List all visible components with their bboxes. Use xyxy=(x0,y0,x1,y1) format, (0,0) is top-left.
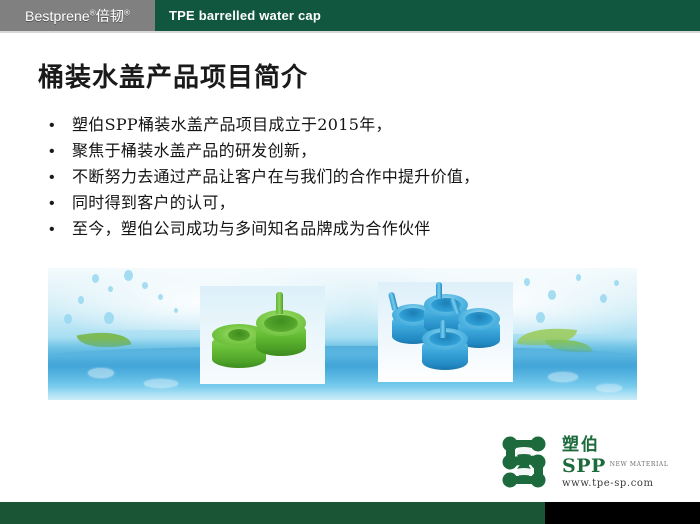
water-droplet xyxy=(64,314,72,324)
water-droplet xyxy=(78,296,84,304)
logo-text-block: 塑伯 SPP NEW MATERIAL www.tpe-sp.com xyxy=(562,436,668,489)
list-item: • 不断努力去通过产品让客户在与我们的合作中提升价值， xyxy=(46,164,656,190)
green-cap-pull-tab xyxy=(276,292,283,314)
water-foam xyxy=(548,372,578,382)
water-droplet xyxy=(600,294,607,303)
water-droplet xyxy=(548,290,556,300)
bullet-marker-icon: • xyxy=(46,165,72,191)
list-item: • 同时得到客户的认可， xyxy=(46,190,656,216)
water-foam xyxy=(88,368,114,378)
spp-molecule-logo-icon xyxy=(496,434,554,490)
water-droplet xyxy=(108,286,113,292)
water-foam xyxy=(144,379,178,388)
blue-cap-top-spout xyxy=(436,282,442,298)
water-droplet xyxy=(92,274,99,283)
slide-header: Bestprene®倍韧® TPE barrelled water cap xyxy=(0,0,700,31)
water-splash-product-photo xyxy=(48,268,637,400)
list-item-text: 塑伯SPP桶装水盖产品项目成立于2015年， xyxy=(72,112,392,138)
footer-bar-black xyxy=(545,502,700,524)
header-brand-block: Bestprene®倍韧® xyxy=(0,0,155,31)
page-title: 桶装水盖产品项目简介 xyxy=(38,57,308,94)
blue-cap-back-left-inner xyxy=(399,308,427,322)
bullet-marker-icon: • xyxy=(46,139,72,165)
green-bottle-cap-photo xyxy=(200,286,325,384)
water-droplet xyxy=(576,274,581,281)
blue-cap-back-left-spout xyxy=(388,292,398,311)
water-droplet xyxy=(142,282,148,289)
logo-website-url: www.tpe-sp.com xyxy=(562,478,668,489)
water-droplet xyxy=(124,270,133,281)
list-item-text: 同时得到客户的认可， xyxy=(72,190,235,216)
bullet-marker-icon: • xyxy=(46,191,72,217)
logo-company-name-cn: 塑伯 xyxy=(562,436,668,455)
list-item-text: 至今，塑伯公司成功与多间知名品牌成为合作伙伴 xyxy=(72,216,431,242)
header-brand-text: Bestprene®倍韧® xyxy=(25,6,130,26)
list-item-text: 不断努力去通过产品让客户在与我们的合作中提升价值， xyxy=(72,164,480,190)
footer-bar-green xyxy=(0,502,545,524)
brand-registered-icon-2: ® xyxy=(124,8,130,17)
header-title-text: TPE barrelled water cap xyxy=(169,8,321,23)
blue-cap-center-spout xyxy=(440,320,446,338)
water-droplet xyxy=(524,278,530,286)
company-logo: 塑伯 SPP NEW MATERIAL www.tpe-sp.com xyxy=(496,432,684,492)
list-item-text: 聚焦于桶装水盖产品的研发创新， xyxy=(72,138,317,164)
list-item: • 至今，塑伯公司成功与多间知名品牌成为合作伙伴 xyxy=(46,216,656,242)
list-item: • 塑伯SPP桶装水盖产品项目成立于2015年， xyxy=(46,112,656,138)
header-divider xyxy=(0,31,700,33)
water-foam xyxy=(596,384,622,392)
water-droplet xyxy=(158,294,163,300)
green-cap-right-inner xyxy=(264,315,298,332)
water-surface-band xyxy=(48,338,637,400)
water-droplet xyxy=(174,308,178,313)
logo-abbreviation: SPP xyxy=(562,457,606,476)
brand-name: Bestprene xyxy=(25,8,90,24)
bullet-marker-icon: • xyxy=(46,217,72,243)
bullet-list: • 塑伯SPP桶装水盖产品项目成立于2015年， • 聚焦于桶装水盖产品的研发创… xyxy=(46,112,656,242)
slide-canvas: Bestprene®倍韧® TPE barrelled water cap 桶装… xyxy=(0,0,700,524)
header-title-block: TPE barrelled water cap xyxy=(155,0,700,31)
green-cap-left-hole xyxy=(228,329,250,341)
logo-abbr-row: SPP NEW MATERIAL xyxy=(562,455,668,476)
list-item: • 聚焦于桶装水盖产品的研发创新， xyxy=(46,138,656,164)
water-droplet xyxy=(536,312,545,323)
brand-name-cn: 倍韧 xyxy=(96,8,124,24)
blue-cap-right-inner xyxy=(465,312,493,326)
water-droplet xyxy=(104,312,114,324)
blue-bottle-caps-photo xyxy=(378,282,513,382)
water-droplet xyxy=(614,280,619,286)
logo-tagline: NEW MATERIAL xyxy=(610,455,669,474)
bullet-marker-icon: • xyxy=(46,113,72,139)
